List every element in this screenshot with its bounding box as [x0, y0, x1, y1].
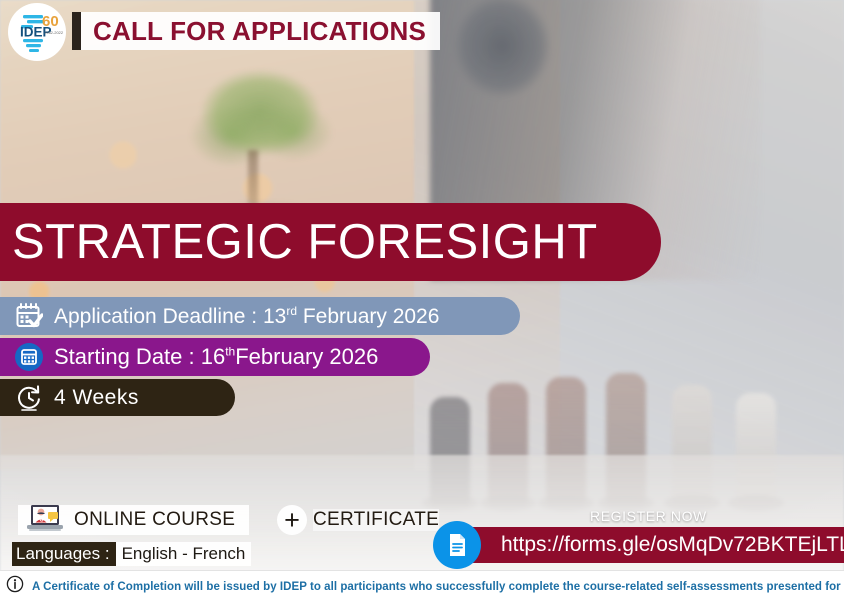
application-deadline-text: Application Deadline : 13rd February 202… — [54, 304, 439, 329]
call-for-applications-banner: CALL FOR APPLICATIONS — [72, 12, 440, 50]
idep-logo: IDEP 60 1962-2022 — [8, 3, 66, 61]
languages-row: Languages : English - French — [12, 542, 251, 566]
footer-note-text: A Certificate of Completion will be issu… — [32, 581, 844, 593]
idep-logo-icon: IDEP 60 1962-2022 — [11, 6, 63, 58]
register-now-label: REGISTER NOW — [590, 508, 707, 524]
course-title: STRATEGIC FORESIGHT — [12, 214, 598, 270]
course-title-banner: STRATEGIC FORESIGHT — [0, 203, 661, 281]
starting-date-text: Starting Date : 16thFebruary 2026 — [54, 344, 378, 370]
registration-url-bar[interactable]: https://forms.gle/osMqDv72BKTEjLTL7 — [455, 527, 844, 563]
starting-date-pill: Starting Date : 16thFebruary 2026 — [0, 338, 430, 376]
languages-label: Languages : — [12, 542, 116, 566]
online-course-band: G ONLINE COURSE — [18, 505, 249, 535]
footer-note-bar: A Certificate of Completion will be issu… — [0, 570, 844, 601]
svg-text:60: 60 — [42, 13, 59, 30]
certificate-text: CERTIFICATE — [313, 509, 439, 531]
form-document-icon — [433, 521, 481, 569]
elearning-laptop-icon: G — [24, 503, 70, 537]
flyer-poster: IDEP 60 1962-2022 CALL FOR APPLICATIONS … — [0, 0, 844, 601]
svg-text:1962-2022: 1962-2022 — [44, 30, 63, 35]
certificate-row: + CERTIFICATE — [277, 505, 439, 535]
banner-accent-bar — [72, 12, 81, 50]
call-for-applications-text: CALL FOR APPLICATIONS — [93, 16, 426, 47]
registration-url[interactable]: https://forms.gle/osMqDv72BKTEjLTL7 — [501, 533, 844, 557]
course-duration-text: 4 Weeks — [54, 386, 139, 410]
info-icon — [6, 575, 24, 598]
online-course-row: G ONLINE COURSE — [18, 505, 249, 535]
online-course-text: ONLINE COURSE — [74, 509, 235, 531]
course-duration-pill: 4 Weeks — [0, 379, 235, 416]
plus-icon: + — [277, 505, 307, 535]
application-deadline-pill: Application Deadline : 13rd February 202… — [0, 297, 520, 335]
calendar-check-icon — [14, 301, 44, 331]
svg-text:G: G — [40, 517, 44, 523]
languages-value: English - French — [116, 542, 252, 566]
clock-history-icon — [14, 383, 44, 413]
calendar-icon — [14, 342, 44, 372]
